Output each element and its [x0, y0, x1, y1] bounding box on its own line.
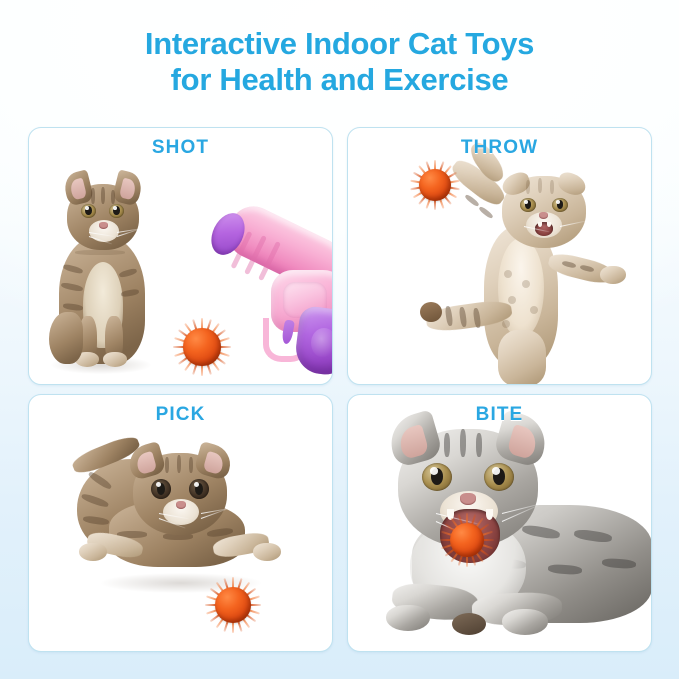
cat-eye-left [422, 463, 452, 491]
title-line-1: Interactive Indoor Cat Toys [0, 26, 679, 62]
cat-paw [386, 605, 430, 631]
cat-eye-right [189, 479, 209, 499]
cat-eye-left [151, 479, 171, 499]
cat-eye-left [520, 198, 536, 212]
feature-card-throw[interactable]: THROW [347, 127, 652, 385]
scene-shot [29, 128, 332, 384]
cat-paw [502, 609, 548, 635]
cat-nose [99, 222, 108, 229]
feature-card-pick[interactable]: PICK [28, 394, 333, 652]
cat-crouching [67, 443, 291, 597]
cat-nose [539, 212, 548, 219]
card-label-pick: PICK [29, 404, 332, 426]
cat-nose [176, 501, 186, 509]
feature-card-shot[interactable]: SHOT [28, 127, 333, 385]
scene-throw [348, 128, 651, 384]
cat-lying [352, 409, 652, 652]
title-line-2: for Health and Exercise [0, 62, 679, 98]
cat-nose [460, 493, 476, 505]
scene-bite [348, 395, 651, 651]
cat-eye-left [81, 204, 96, 218]
card-label-bite: BITE [348, 404, 651, 426]
cat-paw [103, 352, 127, 367]
cat-sitting [45, 166, 157, 376]
feature-card-bite[interactable]: BITE [347, 394, 652, 652]
toy-ball[interactable] [440, 513, 494, 567]
card-label-shot: SHOT [29, 137, 332, 159]
page-title: Interactive Indoor Cat Toys for Health a… [0, 26, 679, 98]
feature-card-grid: SHOT [28, 127, 652, 652]
cat-eye-right [484, 463, 514, 491]
toy-ball[interactable] [410, 160, 460, 210]
cat-paw [79, 543, 107, 561]
toy-launcher[interactable] [215, 200, 333, 372]
cat-paw [600, 266, 626, 284]
cat-hindleg [498, 330, 546, 385]
toy-ball[interactable] [173, 318, 231, 376]
toy-ball[interactable] [205, 577, 261, 633]
cat-eye-right [109, 204, 124, 218]
scene-pick [29, 395, 332, 651]
cat-paw [253, 543, 281, 561]
product-poster: Interactive Indoor Cat Toys for Health a… [0, 0, 679, 679]
card-label-throw: THROW [348, 137, 651, 159]
cat-eye-right [552, 198, 568, 212]
